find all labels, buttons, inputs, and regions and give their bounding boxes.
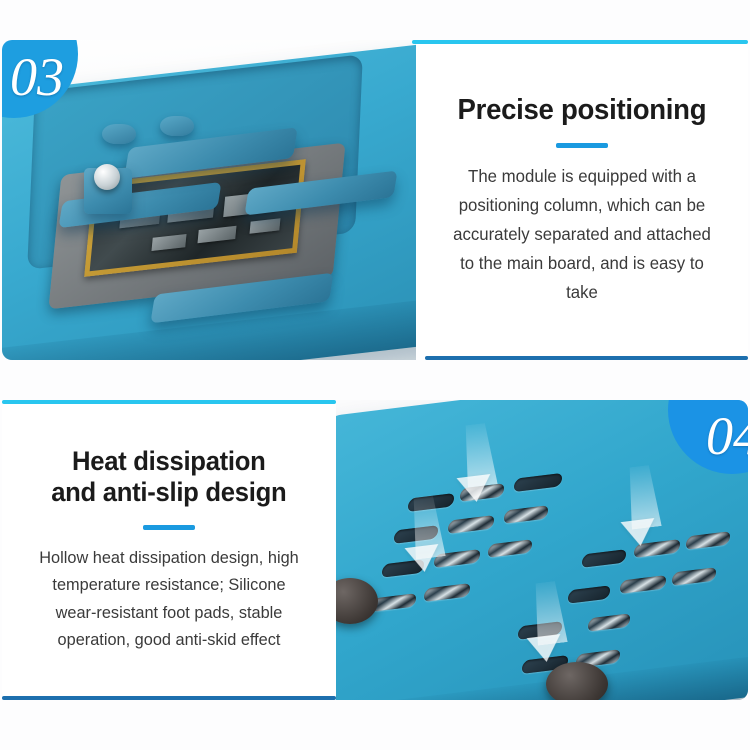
airflow-arrow-icon	[621, 518, 658, 548]
heading-underline	[556, 143, 608, 148]
silicone-foot-pad	[546, 662, 608, 700]
feature-heading-03: Precise positioning	[458, 94, 707, 128]
feature-text-04: Heat dissipation and anti-slip design Ho…	[2, 400, 336, 700]
positioning-column	[160, 116, 194, 136]
positioning-column	[102, 124, 136, 144]
feature-heading-04-line1: Heat dissipation	[72, 446, 266, 476]
airflow-arrow-icon	[405, 544, 442, 574]
feature-heading-04: Heat dissipation and anti-slip design	[51, 446, 286, 509]
feature-body-04: Hollow heat dissipation design, high tem…	[34, 544, 305, 654]
adjustment-screw	[94, 164, 120, 190]
feature-body-03: The module is equipped with a positionin…	[448, 162, 717, 306]
feature-heading-04-line2: and anti-slip design	[51, 477, 286, 507]
feature-panel-04: Heat dissipation and anti-slip design Ho…	[2, 400, 748, 700]
airflow-arrow-icon	[527, 634, 564, 664]
feature-text-03: Precise positioning The module is equipp…	[416, 40, 748, 360]
airflow-arrow-icon	[457, 474, 494, 504]
feature-panel-03: Precise positioning The module is equipp…	[2, 40, 748, 360]
heading-underline	[143, 525, 195, 530]
